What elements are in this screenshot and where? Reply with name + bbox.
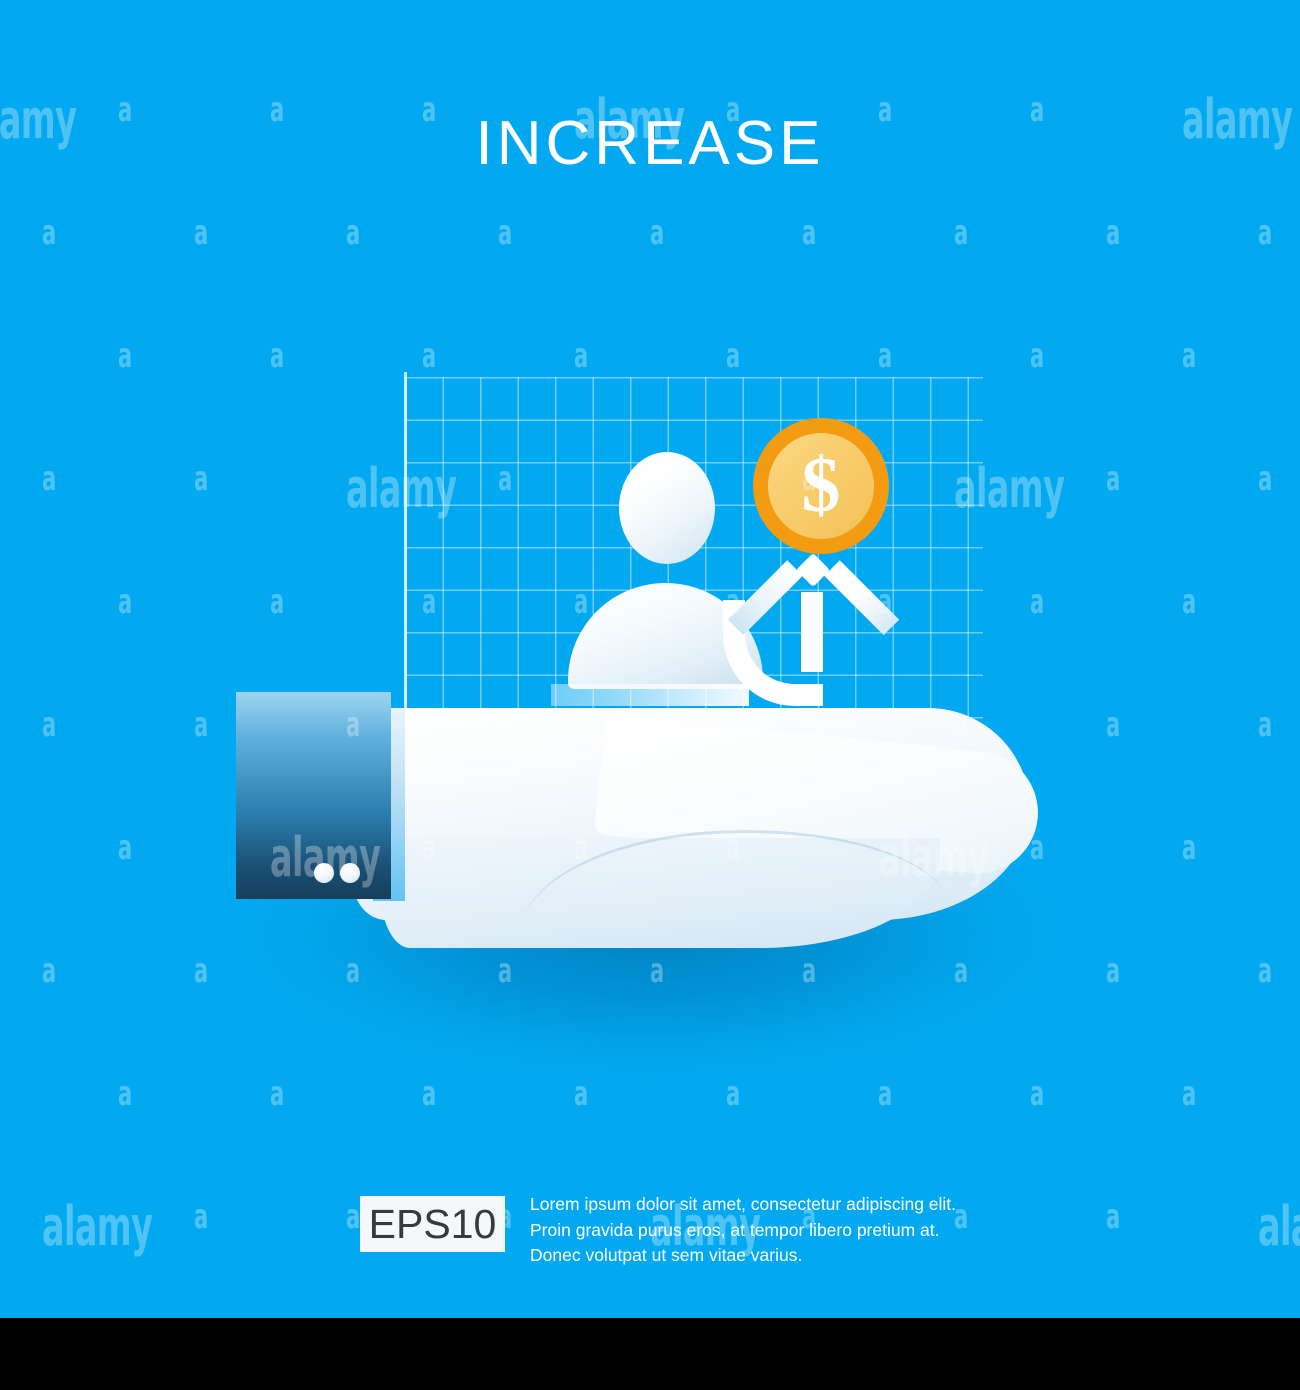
stock-photo-page: INCREASE $ [0, 0, 1300, 1390]
watermark-letter: a [118, 339, 132, 373]
watermark-letter: a [954, 0, 968, 4]
watermark-letter: a [878, 339, 892, 373]
watermark-letter: a [1030, 585, 1044, 619]
watermark-letter: a [270, 339, 284, 373]
watermark-letter: a [118, 585, 132, 619]
arrow-tail [551, 684, 749, 706]
watermark-letter: a [194, 708, 208, 742]
watermark-letter: a [1258, 0, 1272, 4]
watermark-letter: a [422, 339, 436, 373]
page-title: INCREASE [0, 113, 1300, 175]
watermark-letter: a [498, 0, 512, 4]
dollar-coin-icon: $ [753, 418, 889, 554]
description-line-2: Proin gravida purus eros, at tempor libe… [530, 1218, 990, 1244]
watermark-letter: a [726, 339, 740, 373]
watermark-letter: a [346, 216, 360, 250]
sleeve-button-1 [314, 863, 334, 883]
watermark-letter: a [1030, 339, 1044, 373]
watermark-letter: a [346, 0, 360, 4]
watermark-letter: a [42, 216, 56, 250]
watermark-letter: a [346, 1200, 360, 1234]
watermark-letter: a [1258, 462, 1272, 496]
watermark-letter: a [42, 462, 56, 496]
alamy-footer-bar: alamy Image ID: 2C0CEP0 www.alamy.com [0, 1318, 1300, 1390]
watermark-letter: a [42, 0, 56, 4]
watermark-letter: a [42, 954, 56, 988]
suit-sleeve [236, 692, 391, 899]
watermark-letter: a [1182, 1077, 1196, 1111]
watermark-letter: a [1106, 708, 1120, 742]
watermark-letter: a [1258, 216, 1272, 250]
watermark-letter: a [802, 0, 816, 4]
watermark-letter: a [118, 1077, 132, 1111]
watermark-letter: a [1182, 585, 1196, 619]
watermark-letter: a [194, 462, 208, 496]
coin-face: $ [768, 433, 874, 539]
eps-version-badge: EPS10 [360, 1196, 505, 1252]
watermark-letter: a [194, 0, 208, 4]
sleeve-button-2 [340, 863, 360, 883]
arrow-tip-cap [796, 553, 830, 587]
watermark-letter: a [1106, 216, 1120, 250]
watermark-letter: a [1258, 954, 1272, 988]
watermark-letter: a [802, 216, 816, 250]
watermark-letter: a [270, 585, 284, 619]
watermark-letter: a [1106, 1200, 1120, 1234]
chart-y-axis [404, 372, 407, 720]
watermark-letter: a [194, 216, 208, 250]
person-icon-head [619, 452, 715, 564]
description-line-3: Donec volutpat ut sem vitae varius. [530, 1243, 990, 1269]
watermark-letter: a [1182, 339, 1196, 373]
watermark-letter: a [118, 831, 132, 865]
arrow-head-icon [758, 558, 868, 636]
watermark-letter: a [1106, 462, 1120, 496]
watermark-letter: a [574, 339, 588, 373]
dollar-sign: $ [802, 446, 841, 524]
description-text: Lorem ipsum dolor sit amet, consectetur … [530, 1192, 990, 1269]
watermark-letter: a [650, 0, 664, 4]
watermark-letter: a [42, 708, 56, 742]
watermark-letter: a [194, 1200, 208, 1234]
watermark-letter: a [498, 216, 512, 250]
watermark-letter: a [650, 216, 664, 250]
watermark-letter: a [954, 216, 968, 250]
watermark-letter: a [1106, 0, 1120, 4]
description-line-1: Lorem ipsum dolor sit amet, consectetur … [530, 1192, 990, 1218]
watermark-letter: a [1182, 831, 1196, 865]
watermark-letter: a [1258, 708, 1272, 742]
illustration-canvas: INCREASE $ [0, 0, 1300, 1318]
watermark-wordmark: alamy [1258, 1200, 1300, 1254]
watermark-wordmark: alamy [42, 1200, 152, 1254]
